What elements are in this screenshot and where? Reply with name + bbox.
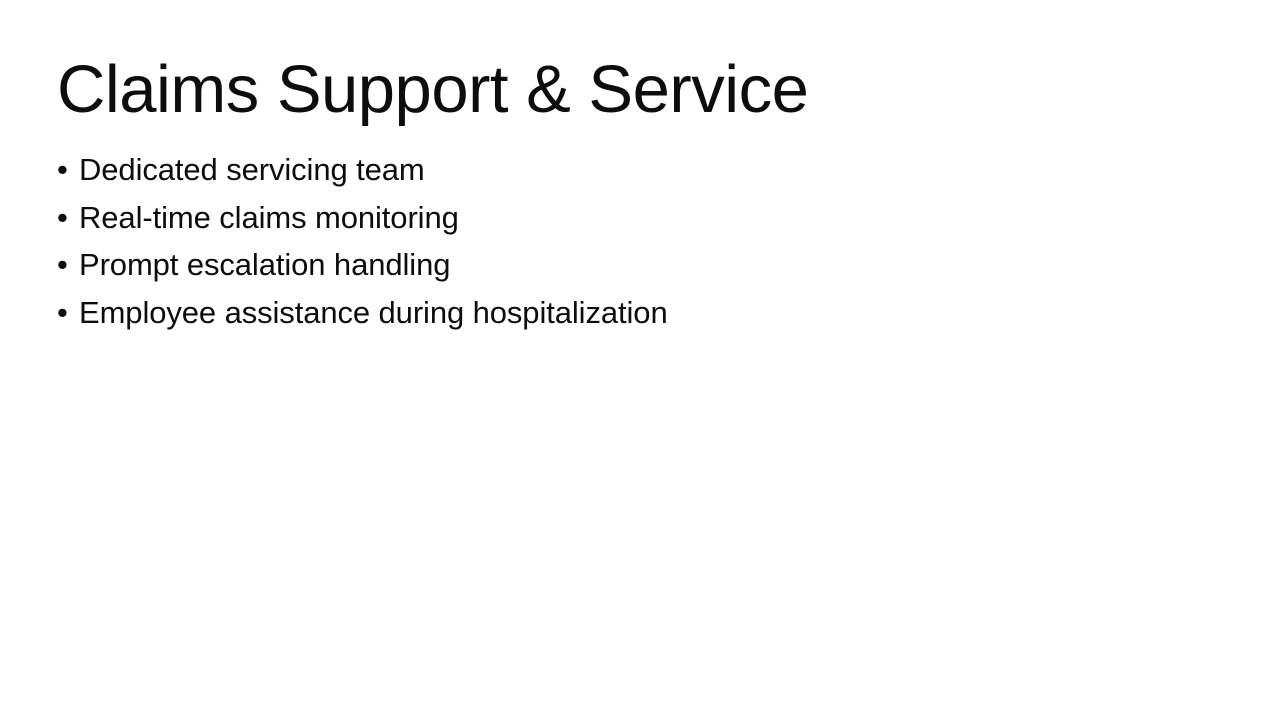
list-item: • Real-time claims monitoring bbox=[57, 194, 1217, 242]
bullet-point-icon: • bbox=[57, 194, 79, 242]
bullet-point-icon: • bbox=[57, 289, 79, 337]
list-item-label: Dedicated servicing team bbox=[79, 146, 425, 194]
page-title: Claims Support & Service bbox=[57, 52, 808, 127]
list-item: • Employee assistance during hospitaliza… bbox=[57, 289, 1217, 337]
presentation-slide: Claims Support & Service • Dedicated ser… bbox=[0, 0, 1280, 720]
list-item-label: Employee assistance during hospitalizati… bbox=[79, 289, 668, 337]
bullet-point-icon: • bbox=[57, 241, 79, 289]
bullet-point-icon: • bbox=[57, 146, 79, 194]
list-item-label: Prompt escalation handling bbox=[79, 241, 450, 289]
bullet-list: • Dedicated servicing team • Real-time c… bbox=[57, 146, 1217, 336]
list-item: • Dedicated servicing team bbox=[57, 146, 1217, 194]
list-item: • Prompt escalation handling bbox=[57, 241, 1217, 289]
list-item-label: Real-time claims monitoring bbox=[79, 194, 459, 242]
